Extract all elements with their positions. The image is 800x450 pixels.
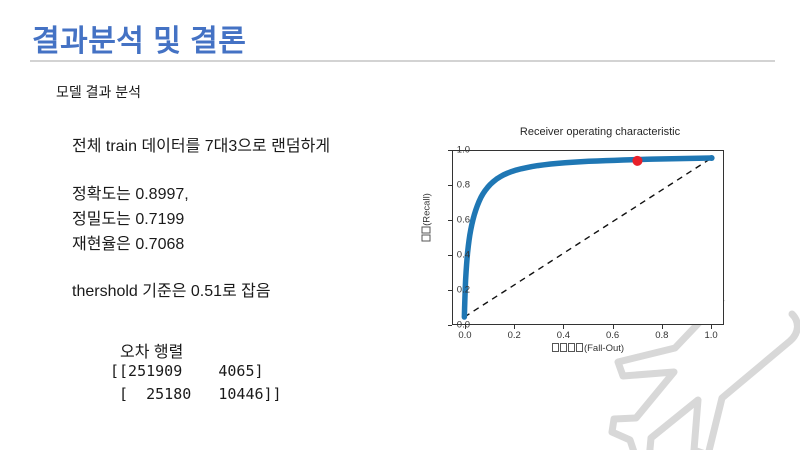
x-tick-label: 0.8 bbox=[642, 330, 682, 341]
y-tick-label: 0.4 bbox=[430, 250, 470, 261]
text-recall: 재현율은 0.7068 bbox=[72, 230, 184, 254]
x-axis-label-text: (Fall-Out) bbox=[584, 343, 624, 354]
y-axis-label-text: (Recall) bbox=[422, 193, 433, 226]
x-tick-label: 1.0 bbox=[691, 330, 731, 341]
plot-area bbox=[452, 150, 724, 325]
operating-point-marker bbox=[632, 156, 642, 166]
confusion-matrix-row: [ 25180 10446]] bbox=[110, 385, 282, 403]
y-tick-label: 0.6 bbox=[430, 215, 470, 226]
slide: 결과분석 및 결론 모델 결과 분석 전체 train 데이터를 7대3으로 랜… bbox=[0, 0, 800, 450]
x-tick-label: 0.4 bbox=[543, 330, 583, 341]
confusion-matrix-row: [[251909 4065] bbox=[110, 362, 264, 380]
endpoint-marker bbox=[709, 155, 715, 161]
title-divider bbox=[30, 60, 775, 62]
y-tick-label: 1.0 bbox=[430, 145, 470, 156]
missing-glyph-boxes bbox=[422, 226, 433, 242]
x-tick-mark bbox=[662, 325, 663, 329]
x-tick-mark bbox=[563, 325, 564, 329]
x-tick-mark bbox=[613, 325, 614, 329]
text-threshold: thershold 기준은 0.51로 잡음 bbox=[72, 277, 271, 301]
x-axis-label: (Fall-Out) bbox=[452, 343, 724, 354]
roc-chart: Receiver operating characteristic 0.0 0.… bbox=[408, 124, 792, 368]
confusion-matrix-label: 오차 행렬 bbox=[120, 338, 183, 362]
y-tick-label: 0.2 bbox=[430, 285, 470, 296]
chart-title: Receiver operating characteristic bbox=[408, 126, 792, 138]
x-tick-label: 0.0 bbox=[445, 330, 485, 341]
y-axis-label: (Recall) bbox=[422, 153, 433, 283]
text-train-split: 전체 train 데이터를 7대3으로 랜덤하게 bbox=[72, 132, 330, 156]
text-accuracy: 정확도는 0.8997, bbox=[72, 180, 189, 204]
section-subtitle: 모델 결과 분석 bbox=[56, 82, 141, 102]
x-tick-mark bbox=[514, 325, 515, 329]
text-precision: 정밀도는 0.7199 bbox=[72, 205, 184, 229]
missing-glyph-boxes bbox=[552, 343, 584, 354]
x-tick-label: 0.6 bbox=[593, 330, 633, 341]
x-tick-mark bbox=[711, 325, 712, 329]
y-tick-label: 0.8 bbox=[430, 180, 470, 191]
chance-diagonal-line bbox=[464, 158, 711, 317]
page-title: 결과분석 및 결론 bbox=[32, 16, 246, 60]
x-tick-mark bbox=[465, 325, 466, 329]
x-tick-label: 0.2 bbox=[494, 330, 534, 341]
